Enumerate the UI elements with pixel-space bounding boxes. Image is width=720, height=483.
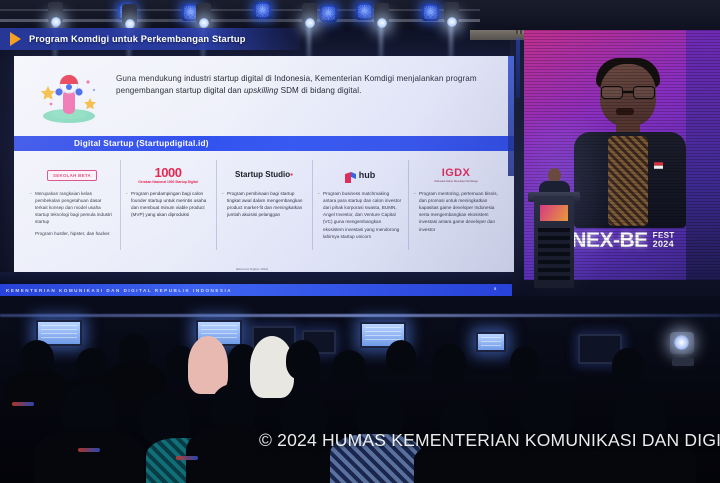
moving-head-spotlight-icon bbox=[122, 4, 137, 26]
speaker-neck bbox=[616, 120, 640, 136]
event-logo-text: NEX-BE bbox=[571, 229, 647, 253]
igdx-logo: IGDX Indonesia Game Developer Exchange bbox=[414, 160, 498, 190]
audience-head bbox=[386, 340, 416, 374]
slide-source-note: (Ekonomi Digital, 2024) bbox=[236, 267, 268, 271]
stage-deco-bar bbox=[516, 38, 520, 98]
slide-intro-paragraph: Guna mendukung industri startup digital … bbox=[116, 68, 496, 130]
gerakan-1000-startup-logo: 1000 Gerakan Nasional 1000 Startup Digit… bbox=[126, 160, 210, 190]
presentation-screen: Guna mendukung industri startup digital … bbox=[14, 56, 514, 272]
program-paragraph: Program business matchmaking antara para… bbox=[323, 190, 402, 240]
chevron-right-icon bbox=[10, 32, 21, 46]
event-year-label: 2024 bbox=[653, 240, 675, 249]
event-fest-label: FEST bbox=[653, 232, 675, 240]
audience-head bbox=[286, 340, 320, 380]
program-column-igdx: IGDX Indonesia Game Developer Exchange -… bbox=[408, 156, 504, 264]
audience-hijab bbox=[188, 336, 228, 394]
program-column-sekolah-beta: SEKOLAH BETA - Merupakan rangkaian kelas… bbox=[24, 156, 120, 264]
led-par-light-icon bbox=[356, 3, 373, 20]
studio-mark-icon: ▪ bbox=[290, 170, 293, 179]
moving-head-spotlight-icon bbox=[444, 2, 459, 24]
audience-head bbox=[432, 344, 466, 380]
led-par-light-icon bbox=[320, 5, 337, 22]
led-par-light-icon bbox=[422, 4, 439, 21]
hub-id-logo-label: hub bbox=[359, 170, 376, 180]
conference-stage-photo: Guna mendukung industri startup digital … bbox=[0, 0, 720, 483]
audience-shoulders bbox=[34, 428, 144, 483]
program-column-body: - Program pendampingan bagi calon founde… bbox=[126, 190, 210, 218]
speaker-mouth bbox=[616, 108, 634, 115]
led-wall-side-panel bbox=[686, 30, 720, 280]
bullet-dash: - bbox=[222, 190, 224, 197]
truss-rail-upper bbox=[0, 9, 480, 11]
program-paragraph: Merupakan rangkaian kelas pembekalan pen… bbox=[35, 190, 114, 226]
speaker-hair bbox=[596, 58, 660, 88]
audience-head bbox=[332, 350, 366, 386]
sekolah-beta-logo-label: SEKOLAH BETA bbox=[47, 170, 97, 181]
program-column-body: - Program mentoring, pertemuan bisnis, d… bbox=[414, 190, 498, 233]
moving-head-spotlight-icon bbox=[302, 3, 317, 25]
glasses-icon bbox=[601, 86, 655, 99]
logo-1000-text: 1000 bbox=[138, 166, 198, 179]
ministry-footer-strip: KEMENTERIAN KOMUNIKASI DAN DIGITAL REPUB… bbox=[0, 284, 512, 296]
podium-event-logo bbox=[540, 205, 568, 221]
startup-studio-logo: Startup Studio▪ bbox=[222, 160, 306, 190]
rocket-launch-illustration bbox=[32, 68, 106, 126]
program-column-body: - Program pembinaan bagi startup tingkat… bbox=[222, 190, 306, 218]
program-column-startup-studio: Startup Studio▪ - Program pembinaan bagi… bbox=[216, 156, 312, 264]
program-paragraph: Program pembinaan bagi startup tingkat a… bbox=[227, 190, 306, 218]
sekolah-beta-logo: SEKOLAH BETA bbox=[30, 160, 114, 190]
audience-lanyard bbox=[12, 402, 34, 406]
audience-area bbox=[0, 296, 720, 483]
laptop-screen bbox=[476, 332, 506, 352]
stage-deco-bar bbox=[508, 56, 514, 176]
moving-head-spotlight-icon bbox=[48, 2, 63, 24]
slide-intro-block: Guna mendukung industri startup digital … bbox=[32, 68, 496, 130]
speaker-closeup bbox=[568, 58, 692, 226]
audience-head bbox=[612, 348, 644, 382]
ministry-footer-label: KEMENTERIAN KOMUNIKASI DAN DIGITAL REPUB… bbox=[6, 288, 232, 293]
moving-head-spotlight-icon bbox=[374, 3, 389, 25]
truss-rail-lower bbox=[0, 19, 480, 22]
speaker-batik-shirt bbox=[608, 136, 648, 226]
igdx-logo-subtitle: Indonesia Game Developer Exchange bbox=[434, 180, 478, 183]
hub-mark-icon bbox=[345, 170, 356, 181]
logo-1000-subtitle: Gerakan Nasional 1000 Startup Digital bbox=[138, 180, 198, 184]
event-logo-fest-year: FEST 2024 bbox=[653, 232, 675, 250]
program-paragraph: Program mentoring, pertemuan bisnis, dan… bbox=[419, 190, 498, 233]
program-paragraph: Program hustler, hipster, dan hacker. bbox=[35, 230, 114, 237]
audience-lanyard bbox=[176, 456, 198, 460]
slide-section-band-label: Digital Startup (Startupdigital.id) bbox=[74, 139, 209, 148]
slide-section-band: Digital Startup (Startupdigital.id) bbox=[14, 136, 514, 151]
program-column-hub-id: hub - Program business matchmaking antar… bbox=[312, 156, 408, 264]
audience-head bbox=[510, 346, 540, 380]
startup-studio-logo-label: Startup Studio bbox=[235, 170, 290, 179]
slide-page-number: 5 bbox=[494, 286, 496, 291]
program-column-body: - Merupakan rangkaian kelas pembekalan p… bbox=[30, 190, 114, 237]
slide-surface: Guna mendukung industri startup digital … bbox=[14, 56, 514, 272]
speaker-head bbox=[600, 64, 656, 126]
slide-title-bar: Program Komdigi untuk Perkembangan Start… bbox=[0, 28, 300, 50]
page-title: Program Komdigi untuk Perkembangan Start… bbox=[29, 34, 246, 44]
screen-lower-shadow bbox=[0, 272, 512, 284]
bullet-dash: - bbox=[30, 190, 32, 197]
podium-front-panel bbox=[538, 228, 570, 284]
program-column-body: - Program business matchmaking antara pa… bbox=[318, 190, 402, 240]
bullet-dash: - bbox=[318, 190, 320, 197]
audience-lanyard bbox=[78, 448, 100, 452]
lighting-truss bbox=[0, 0, 720, 30]
speaker-torso bbox=[574, 132, 686, 228]
igdx-logo-label: IGDX bbox=[434, 168, 478, 179]
slide-program-columns: SEKOLAH BETA - Merupakan rangkaian kelas… bbox=[24, 156, 504, 264]
stage-edge-light bbox=[0, 314, 720, 317]
program-paragraph: Program pendampingan bagi calon founder … bbox=[131, 190, 210, 218]
program-column-1000-startup: 1000 Gerakan Nasional 1000 Startup Digit… bbox=[120, 156, 216, 264]
copyright-watermark: © 2024 HUMAS KEMENTERIAN KOMUNIKASI DAN … bbox=[259, 430, 719, 451]
bullet-dash: - bbox=[126, 190, 128, 197]
indonesia-flag-pin-icon bbox=[654, 162, 663, 169]
floor-moving-light-icon bbox=[670, 332, 696, 366]
led-par-light-icon bbox=[254, 2, 271, 19]
moving-head-spotlight-icon bbox=[196, 3, 211, 25]
hub-id-logo: hub bbox=[318, 160, 402, 190]
bullet-dash: - bbox=[414, 190, 416, 197]
